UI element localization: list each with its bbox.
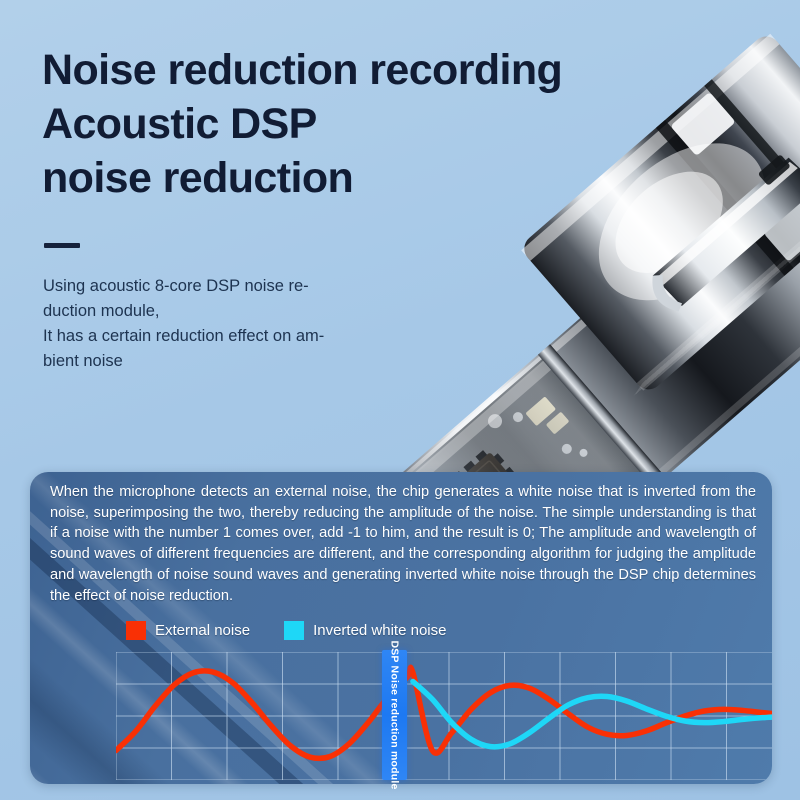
legend-item-inverted-white-noise: Inverted white noise (284, 621, 446, 640)
hero-subcopy: Using acoustic 8-core DSP noise re- duct… (43, 274, 373, 374)
legend-label-inverted-white-noise: Inverted white noise (313, 623, 446, 638)
noise-waveform-chart (116, 652, 772, 780)
legend-swatch-inverted-white-noise (284, 621, 304, 640)
dsp-module-marker: DSP Noise reduction module (382, 650, 407, 780)
page-title: Noise reduction recording Acoustic DSP n… (42, 44, 642, 205)
legend-swatch-external-noise (126, 621, 146, 640)
dsp-module-label: DSP Noise reduction module (389, 640, 401, 789)
promo-image-root: DSP 8 cores (0, 0, 800, 800)
explanation-paragraph: When the microphone detects an external … (50, 482, 756, 606)
title-divider (44, 243, 80, 248)
legend-label-external-noise: External noise (155, 623, 250, 638)
legend-item-external-noise: External noise (126, 621, 250, 640)
chart-legend: External noise Inverted white noise (126, 621, 446, 640)
